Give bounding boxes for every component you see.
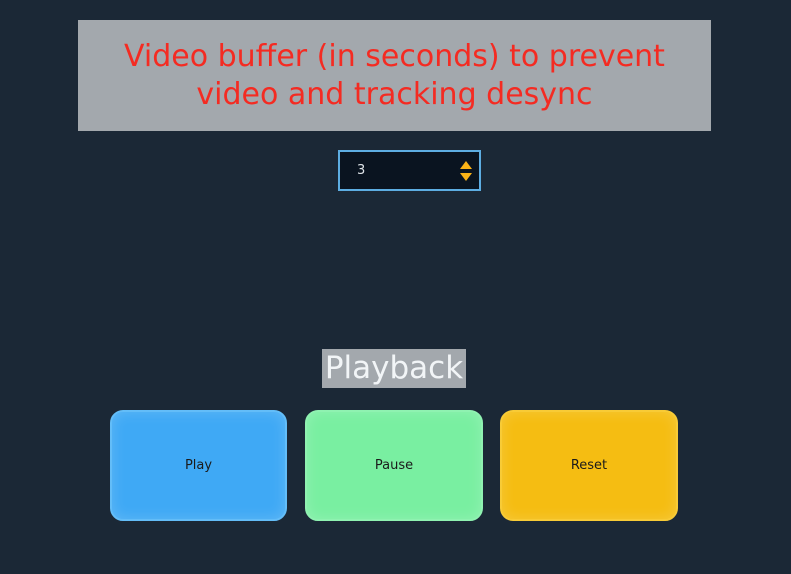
play-button[interactable]: Play [110,410,287,521]
spinner-stepper[interactable] [453,152,479,189]
video-buffer-input[interactable]: 3 [340,163,453,178]
triangle-down-icon[interactable] [460,173,472,181]
video-buffer-title-banner: Video buffer (in seconds) to prevent vid… [78,20,711,131]
page-title: Video buffer (in seconds) to prevent vid… [114,38,675,112]
playback-section-label: Playback [322,349,466,388]
triangle-up-icon[interactable] [460,161,472,169]
video-buffer-spinner[interactable]: 3 [338,150,481,191]
pause-button[interactable]: Pause [305,410,483,521]
reset-button[interactable]: Reset [500,410,678,521]
